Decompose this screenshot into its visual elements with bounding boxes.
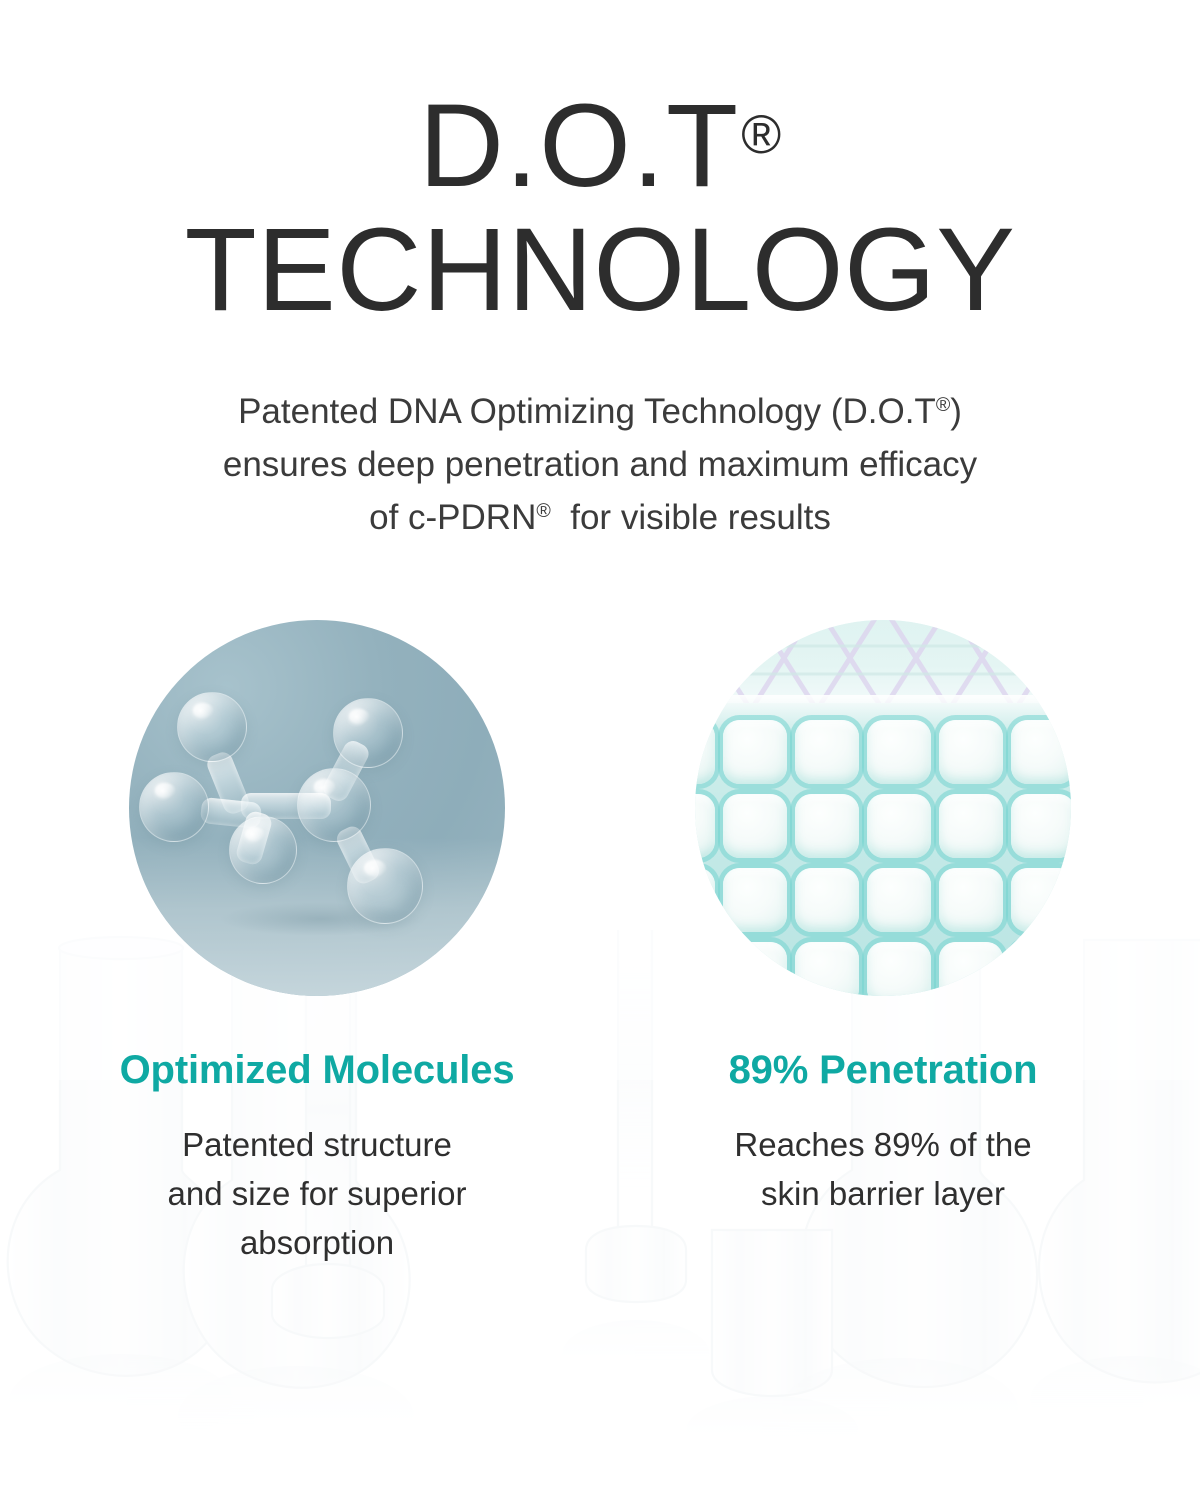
barrier-cell xyxy=(695,868,715,932)
barrier-cell xyxy=(1011,868,1071,932)
feature-description: Patented structure and size for superior… xyxy=(168,1121,467,1267)
barrier-cell xyxy=(867,794,931,858)
barrier-cell xyxy=(867,942,931,996)
feature-title: Optimized Molecules xyxy=(120,1048,515,1093)
barrier-cell xyxy=(1011,794,1071,858)
feature-description-line: and size for superior xyxy=(168,1170,467,1219)
barrier-cell xyxy=(795,794,859,858)
subtitle-line-3-a: of c-PDRN xyxy=(369,498,536,537)
headline-line-2: TECHNOLOGY xyxy=(0,210,1200,330)
feature-description-line: Patented structure xyxy=(168,1121,467,1170)
barrier-cell xyxy=(867,720,931,784)
molecule-atom xyxy=(139,772,209,842)
molecule-atom xyxy=(229,816,297,884)
barrier-cell xyxy=(723,868,787,932)
subtitle-line-1-a: Patented DNA Optimizing Technology (D.O.… xyxy=(238,392,936,431)
molecule-atom xyxy=(177,692,247,762)
barrier-cell xyxy=(867,868,931,932)
barrier-cell xyxy=(795,720,859,784)
feature-optimized-molecules: Optimized Molecules Patented structure a… xyxy=(34,620,600,1267)
molecule-illustration xyxy=(129,620,505,996)
barrier-cell xyxy=(695,942,715,996)
barrier-cell xyxy=(1011,942,1071,996)
subtitle-line-1-b: ) xyxy=(950,392,962,431)
barrier-cell xyxy=(939,794,1003,858)
barrier-cell xyxy=(723,720,787,784)
feature-penetration: 89% Penetration Reaches 89% of the skin … xyxy=(600,620,1166,1267)
barrier-cell xyxy=(939,720,1003,784)
barrier-cell xyxy=(1011,720,1071,784)
dna-pattern-band xyxy=(695,620,1071,703)
subtitle-line-3-b: for visible results xyxy=(551,498,831,537)
barrier-cell xyxy=(695,794,715,858)
registered-trademark-icon: ® xyxy=(741,104,781,165)
headline-line-1: D.O.T® xyxy=(0,86,1200,206)
barrier-cell xyxy=(939,942,1003,996)
molecule-atom xyxy=(333,698,403,768)
subtitle-line-2: ensures deep penetration and maximum eff… xyxy=(0,438,1200,491)
barrier-cell xyxy=(795,942,859,996)
subtitle: Patented DNA Optimizing Technology (D.O.… xyxy=(0,385,1200,545)
barrier-cell xyxy=(723,794,787,858)
feature-title: 89% Penetration xyxy=(729,1048,1038,1093)
registered-trademark-icon: ® xyxy=(936,394,950,416)
subtitle-line-1: Patented DNA Optimizing Technology (D.O.… xyxy=(0,385,1200,438)
barrier-cell xyxy=(723,942,787,996)
barrier-cell xyxy=(939,868,1003,932)
page-title: D.O.T® TECHNOLOGY xyxy=(0,0,1200,331)
subtitle-line-3: of c-PDRN® for visible results xyxy=(0,491,1200,544)
feature-description-line: Reaches 89% of the xyxy=(734,1121,1031,1170)
molecule-atom-core xyxy=(297,768,371,842)
barrier-cell xyxy=(695,720,715,784)
registered-trademark-icon: ® xyxy=(536,500,550,522)
feature-description-line: absorption xyxy=(168,1219,467,1268)
barrier-cell xyxy=(795,868,859,932)
feature-description: Reaches 89% of the skin barrier layer xyxy=(734,1121,1031,1219)
skin-barrier-illustration xyxy=(695,620,1071,996)
feature-description-line: skin barrier layer xyxy=(734,1170,1031,1219)
dot-technology-infographic: D.O.T® TECHNOLOGY Patented DNA Optimizin… xyxy=(0,0,1200,1500)
feature-columns: Optimized Molecules Patented structure a… xyxy=(0,620,1200,1267)
headline-dot-text: D.O.T xyxy=(419,80,740,212)
barrier-cell-grid xyxy=(695,714,1071,996)
molecule-atom xyxy=(347,848,423,924)
